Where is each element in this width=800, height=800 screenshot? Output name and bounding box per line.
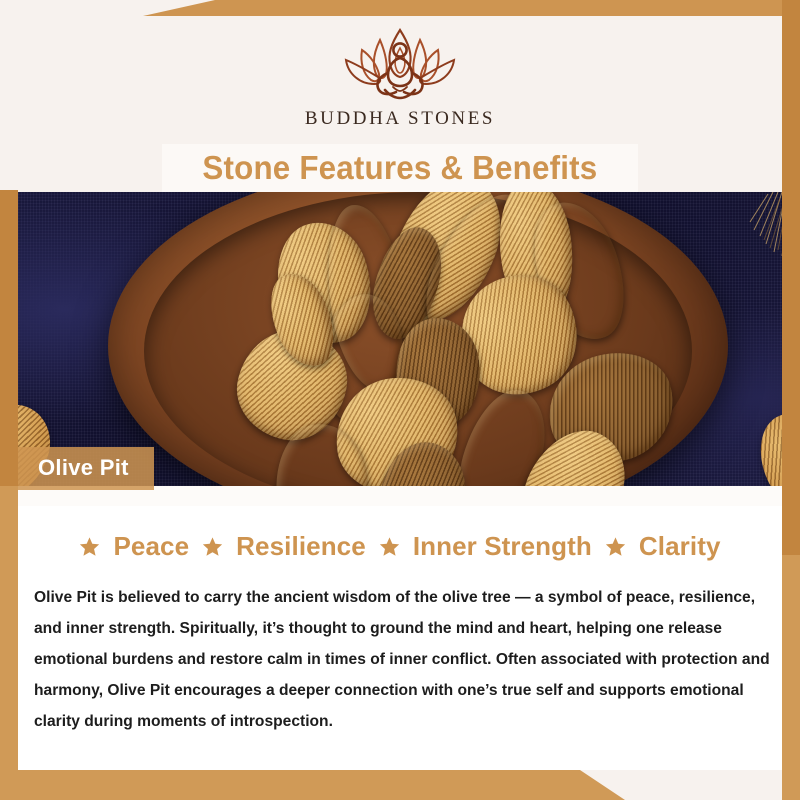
title-banner: Stone Features & Benefits <box>162 144 638 192</box>
frame-top-accent <box>143 0 800 16</box>
frame-bottom-accent <box>0 770 625 800</box>
keyword-resilience: Resilience <box>236 531 366 562</box>
frame-left-lower-accent <box>0 486 18 800</box>
keyword-row: Peace Resilience Inner Strength Clarity <box>18 531 782 562</box>
infographic-card: BUDDHA STONES Stone Features & Benefits … <box>0 0 800 800</box>
hero-photo <box>0 192 800 486</box>
page-title: Stone Features & Benefits <box>203 149 598 187</box>
description-paragraph: Olive Pit is believed to carry the ancie… <box>34 582 770 737</box>
star-icon <box>202 536 223 557</box>
lotus-meditation-figure-icon <box>338 24 462 104</box>
keyword-peace: Peace <box>113 531 189 562</box>
frame-right-lower-accent <box>782 555 800 800</box>
brand-name: BUDDHA STONES <box>305 108 495 130</box>
keyword-inner-strength: Inner Strength <box>413 531 592 562</box>
star-icon <box>379 536 400 557</box>
content-panel: Peace Resilience Inner Strength Clarity … <box>18 486 782 770</box>
brand-logo: BUDDHA STONES <box>0 24 800 130</box>
keyword-clarity: Clarity <box>639 531 721 562</box>
stone-name-chip: Olive Pit <box>18 447 154 490</box>
stone-name-label: Olive Pit <box>38 455 129 480</box>
star-icon <box>79 536 100 557</box>
wooden-bowl <box>108 192 728 486</box>
star-icon <box>605 536 626 557</box>
